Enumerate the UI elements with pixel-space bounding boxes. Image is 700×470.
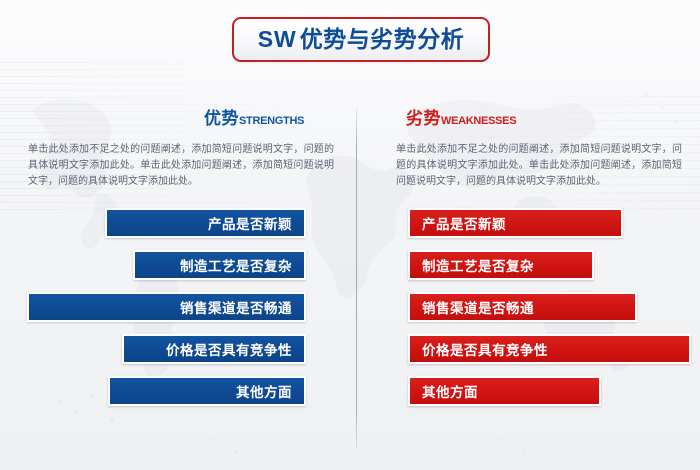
weakness-bar-2[interactable]: 制造工艺是否复杂: [408, 250, 594, 280]
strength-bar-4-label: 价格是否具有竞争性: [166, 339, 292, 359]
strength-bar-2-label: 制造工艺是否复杂: [180, 255, 292, 275]
weaknesses-heading: 劣势WEAKNESSES: [406, 110, 516, 128]
weakness-bar-3[interactable]: 销售渠道是否畅通: [408, 292, 637, 322]
strength-bar-3[interactable]: 销售渠道是否畅通: [27, 292, 306, 322]
title-main: 优势与劣势分析: [300, 26, 465, 52]
weaknesses-description: 单击此处添加不足之处的问题阐述，添加简短问题说明文字，问题的具体说明文字添加此处…: [396, 142, 682, 190]
page-title: SW优势与劣势分析: [258, 28, 465, 51]
weakness-bar-1-label: 产品是否新颖: [422, 213, 506, 233]
weakness-bar-4-label: 价格是否具有竞争性: [422, 339, 548, 359]
strengths-heading: 优势STRENGTHS: [204, 110, 304, 128]
strength-bar-5-label: 其他方面: [236, 381, 292, 401]
weaknesses-heading-en: WEAKNESSES: [441, 115, 516, 127]
strength-bar-1[interactable]: 产品是否新颖: [105, 208, 306, 238]
weaknesses-heading-cn: 劣势: [406, 109, 441, 128]
weakness-bar-5-label: 其他方面: [422, 381, 478, 401]
column-divider: [356, 107, 357, 450]
strength-bar-5[interactable]: 其他方面: [108, 376, 306, 406]
weakness-bar-3-label: 销售渠道是否畅通: [422, 297, 534, 317]
weakness-bar-5[interactable]: 其他方面: [408, 376, 601, 406]
swot-slide: SW优势与劣势分析 优势STRENGTHS 单击此处添加不足之处的问题阐述，添加…: [0, 0, 700, 470]
slide-title-box: SW优势与劣势分析: [232, 17, 490, 62]
strengths-heading-cn: 优势: [204, 109, 239, 128]
weakness-bar-4[interactable]: 价格是否具有竞争性: [408, 334, 691, 364]
strengths-heading-en: STRENGTHS: [239, 115, 304, 127]
weakness-bar-1[interactable]: 产品是否新颖: [408, 208, 623, 238]
title-prefix: SW: [258, 26, 297, 52]
strength-bar-1-label: 产品是否新颖: [208, 213, 292, 233]
strength-bar-2[interactable]: 制造工艺是否复杂: [133, 250, 306, 280]
weakness-bar-2-label: 制造工艺是否复杂: [422, 255, 534, 275]
strengths-description: 单击此处添加不足之处的问题阐述，添加简短问题说明文字，问题的具体说明文字添加此处…: [28, 142, 334, 190]
strength-bar-4[interactable]: 价格是否具有竞争性: [122, 334, 306, 364]
strength-bar-3-label: 销售渠道是否畅通: [180, 297, 292, 317]
